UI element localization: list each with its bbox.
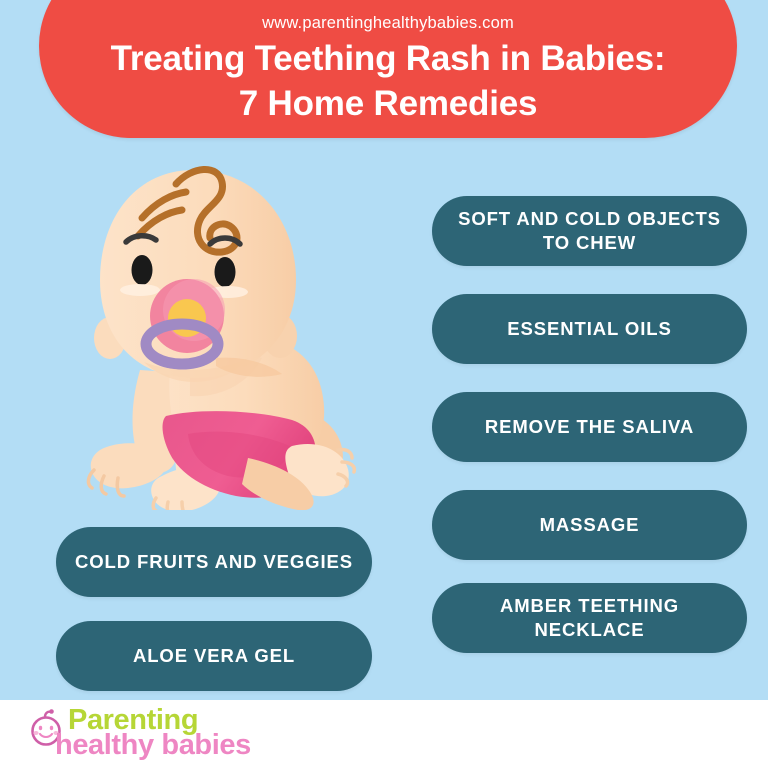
remedy-label: ESSENTIAL OILS <box>493 317 685 341</box>
remedy-pill-amber-teething-necklace[interactable]: AMBER TEETHING NECKLACE <box>432 583 747 653</box>
remedy-pill-cold-fruits-and-veggies[interactable]: COLD FRUITS AND VEGGIES <box>56 527 372 597</box>
site-url: www.parentinghealthybabies.com <box>262 14 514 33</box>
remedy-pill-soft-and-cold-objects-to-chew[interactable]: SOFT AND COLD OBJECTS TO CHEW <box>432 196 747 266</box>
remedy-label: REMOVE THE SALIVA <box>471 415 708 439</box>
baby-illustration <box>70 158 400 510</box>
remedy-pill-massage[interactable]: MASSAGE <box>432 490 747 560</box>
remedy-label: ALOE VERA GEL <box>119 644 309 668</box>
remedy-label: MASSAGE <box>526 513 654 537</box>
infographic-canvas: www.parentinghealthybabies.com Treating … <box>0 0 768 768</box>
baby-eye-left <box>132 255 153 285</box>
page-title: Treating Teething Rash in Babies: 7 Home… <box>108 37 668 126</box>
baby-head <box>94 169 297 382</box>
baby-eye-right <box>215 257 236 287</box>
remedy-pill-essential-oils[interactable]: ESSENTIAL OILS <box>432 294 747 364</box>
brand-logo-text: Parenting healthy babies <box>68 708 251 758</box>
header-banner: www.parentinghealthybabies.com Treating … <box>39 0 737 138</box>
footer-strip: Parenting healthy babies <box>0 700 768 768</box>
remedy-label: AMBER TEETHING NECKLACE <box>432 594 747 643</box>
remedy-label: SOFT AND COLD OBJECTS TO CHEW <box>432 207 747 256</box>
remedy-label: COLD FRUITS AND VEGGIES <box>61 550 367 574</box>
remedy-pill-aloe-vera-gel[interactable]: ALOE VERA GEL <box>56 621 372 691</box>
brand-logo[interactable]: Parenting healthy babies <box>27 706 251 758</box>
remedy-pill-remove-the-saliva[interactable]: REMOVE THE SALIVA <box>432 392 747 462</box>
brand-logo-line2: healthy babies <box>55 733 251 758</box>
